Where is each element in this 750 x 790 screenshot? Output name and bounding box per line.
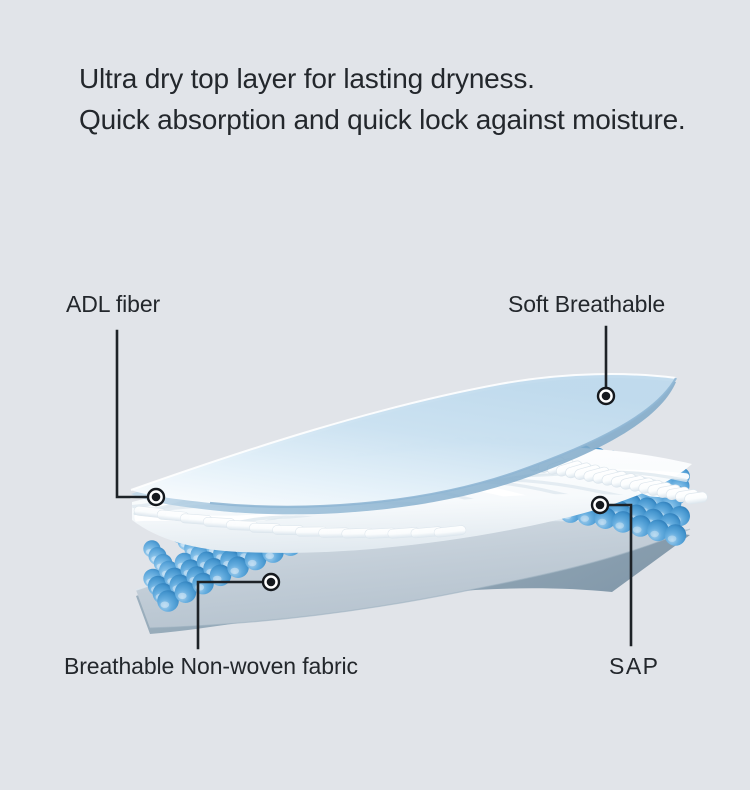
- callout-label-soft-breathable: Soft Breathable: [508, 291, 665, 318]
- product-layer-infographic: Ultra dry top layer for lasting dryness.…: [0, 0, 750, 790]
- callout-label-adl-fiber: ADL fiber: [66, 291, 160, 318]
- marker-sap: [592, 497, 608, 513]
- callout-label-sap: SAP: [609, 653, 660, 680]
- marker-soft: [598, 388, 614, 404]
- leader-line-adl: [117, 331, 154, 497]
- marker-non-woven: [263, 574, 279, 590]
- callout-label-non-woven-fabric: Breathable Non-woven fabric: [64, 653, 358, 680]
- marker-adl: [148, 489, 164, 505]
